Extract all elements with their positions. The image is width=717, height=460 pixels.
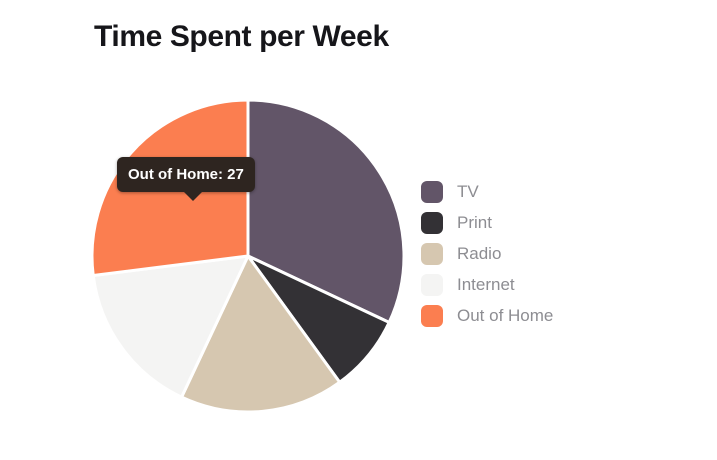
chart-legend: TVPrintRadioInternetOut of Home [421, 180, 553, 327]
chart-tooltip: Out of Home: 27 [117, 157, 255, 192]
legend-item-label: Out of Home [457, 306, 553, 326]
legend-item-label: TV [457, 182, 479, 202]
pie-svg [0, 0, 717, 460]
pie-chart-card: Time Spent per Week Out of Home: 27 TVPr… [0, 0, 717, 460]
legend-item-internet[interactable]: Internet [421, 273, 553, 296]
legend-swatch-icon [421, 212, 443, 234]
tooltip-arrow [183, 191, 203, 201]
legend-swatch-icon [421, 181, 443, 203]
legend-item-tv[interactable]: TV [421, 180, 553, 203]
legend-item-out-of-home[interactable]: Out of Home [421, 304, 553, 327]
legend-swatch-icon [421, 305, 443, 327]
legend-item-label: Print [457, 213, 492, 233]
legend-item-radio[interactable]: Radio [421, 242, 553, 265]
tooltip-label: Out of Home: 27 [128, 166, 244, 183]
pie-slices-group[interactable] [92, 100, 404, 412]
legend-item-label: Radio [457, 244, 501, 264]
legend-swatch-icon [421, 243, 443, 265]
chart-plot-area: Out of Home: 27 TVPrintRadioInternetOut … [0, 0, 717, 460]
legend-item-label: Internet [457, 275, 515, 295]
legend-item-print[interactable]: Print [421, 211, 553, 234]
legend-swatch-icon [421, 274, 443, 296]
